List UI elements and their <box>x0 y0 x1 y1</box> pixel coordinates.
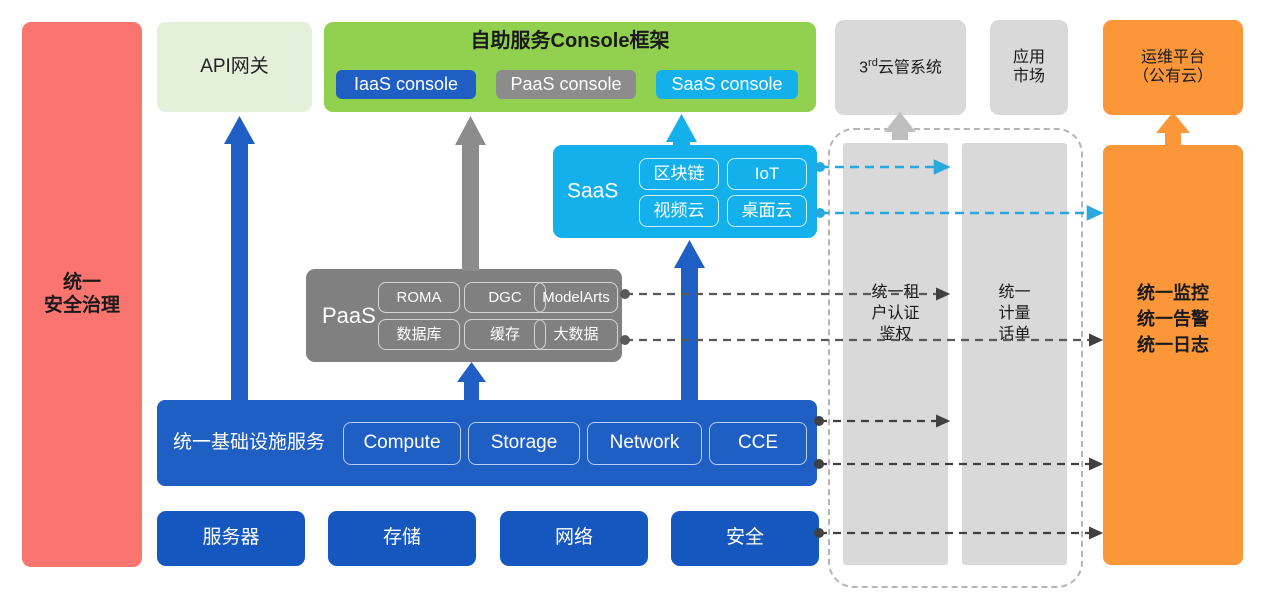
ops-platform-box[interactable]: 运维平台 （公有云） <box>1103 20 1243 115</box>
ops-platform-line2: （公有云） <box>1133 68 1213 87</box>
paas-console-chip[interactable]: PaaS console <box>496 70 636 99</box>
saas-chip-desktop-cloud[interactable]: 桌面云 <box>727 195 807 227</box>
shared-column-metering-billing: 统一 计量 话单 <box>962 143 1067 565</box>
unified-infrastructure-service-bar: 统一基础设施服务 Compute Storage Network CCE <box>157 400 817 486</box>
paas-chip-bigdata-label: 大数据 <box>553 326 598 344</box>
paas-chip-database[interactable]: 数据库 <box>378 319 460 350</box>
iaas-console-chip[interactable]: IaaS console <box>336 70 476 99</box>
architecture-diagram: 统一 安全治理 API网关 自助服务Console框架 IaaS console… <box>0 0 1265 605</box>
arrow-infra-to-paas <box>457 362 486 402</box>
arrow-infra-to-saas <box>674 240 705 402</box>
hardware-storage-label: 存储 <box>383 527 421 549</box>
infra-chip-storage[interactable]: Storage <box>468 422 580 465</box>
metering-line3: 话单 <box>962 325 1067 346</box>
third-party-prefix: 3 <box>859 59 868 76</box>
infra-chip-storage-label: Storage <box>491 432 558 454</box>
saas-chip-video-cloud[interactable]: 视频云 <box>639 195 719 227</box>
saas-chip-iot-label: IoT <box>755 164 780 184</box>
infrastructure-label: 统一基础设施服务 <box>173 432 325 454</box>
app-market-line1: 应用 <box>1013 49 1045 68</box>
paas-chip-database-label: 数据库 <box>396 326 441 344</box>
paas-chip-bigdata[interactable]: 大数据 <box>534 319 618 350</box>
paas-chip-roma[interactable]: ROMA <box>378 282 460 313</box>
paas-console-label: PaaS console <box>510 74 621 95</box>
shared-column-tenant-auth: 统一租 户认证 鉴权 <box>843 143 948 565</box>
saas-panel-label: SaaS <box>567 179 618 204</box>
saas-chip-blockchain[interactable]: 区块链 <box>639 158 719 190</box>
api-gateway-label: API网关 <box>200 56 269 78</box>
infra-chip-compute-label: Compute <box>363 432 440 454</box>
paas-chip-modelarts-label: ModelArts <box>542 289 610 307</box>
arrow-paas-to-console <box>455 116 486 271</box>
api-gateway-box[interactable]: API网关 <box>157 22 312 112</box>
paas-chip-modelarts[interactable]: ModelArts <box>534 282 618 313</box>
hardware-network-label: 网络 <box>555 527 593 549</box>
hardware-server-label: 服务器 <box>202 527 259 549</box>
tenant-auth-line3: 鉴权 <box>843 325 948 346</box>
saas-panel: SaaS 区块链 IoT 视频云 桌面云 <box>553 145 817 238</box>
third-party-cloud-mgmt-label: 3rd云管系统 <box>859 57 942 78</box>
hardware-box-network[interactable]: 网络 <box>500 511 648 566</box>
hardware-security-label: 安全 <box>726 527 764 549</box>
third-party-cloud-mgmt-box[interactable]: 3rd云管系统 <box>835 20 966 115</box>
metering-line2: 计量 <box>962 304 1067 325</box>
ops-pillar-line3: 统一日志 <box>1103 332 1243 358</box>
saas-chip-desktop-cloud-label: 桌面云 <box>742 201 793 221</box>
third-party-suffix: 云管系统 <box>878 59 942 76</box>
arrow-infra-to-api-gateway <box>224 116 255 402</box>
saas-chip-iot[interactable]: IoT <box>727 158 807 190</box>
app-market-line2: 市场 <box>1013 68 1045 87</box>
hardware-box-storage[interactable]: 存储 <box>328 511 476 566</box>
iaas-console-label: IaaS console <box>354 74 458 95</box>
saas-console-label: SaaS console <box>671 74 782 95</box>
infra-chip-network[interactable]: Network <box>587 422 702 465</box>
tenant-auth-line1: 统一租 <box>843 283 948 304</box>
saas-chip-blockchain-label: 区块链 <box>654 164 705 184</box>
saas-chip-video-cloud-label: 视频云 <box>654 201 705 221</box>
app-market-box[interactable]: 应用 市场 <box>990 20 1068 115</box>
hardware-box-security[interactable]: 安全 <box>671 511 819 566</box>
infra-chip-network-label: Network <box>610 432 680 454</box>
security-pillar-line1: 统一 <box>63 272 101 294</box>
unified-security-governance-pillar: 统一 安全治理 <box>22 22 142 567</box>
hardware-box-server[interactable]: 服务器 <box>157 511 305 566</box>
paas-chip-cache-label: 缓存 <box>490 326 520 344</box>
paas-panel-label: PaaS <box>322 303 376 329</box>
infra-chip-compute[interactable]: Compute <box>343 422 461 465</box>
infra-chip-cce-label: CCE <box>738 432 778 454</box>
paas-panel: PaaS ROMA DGC ModelArts 数据库 缓存 大数据 <box>306 269 622 362</box>
third-party-superscript: rd <box>868 57 878 69</box>
ops-platform-line1: 运维平台 <box>1141 49 1205 68</box>
self-service-console-frame: 自助服务Console框架 IaaS console PaaS console … <box>324 22 816 112</box>
ops-pillar-line1: 统一监控 <box>1103 280 1243 306</box>
console-frame-title: 自助服务Console框架 <box>324 30 816 54</box>
tenant-auth-line2: 户认证 <box>843 304 948 325</box>
metering-line1: 统一 <box>962 283 1067 304</box>
arrow-ops-pillar-to-platform <box>1156 112 1190 146</box>
security-pillar-line2: 安全治理 <box>44 295 120 317</box>
saas-console-chip[interactable]: SaaS console <box>656 70 798 99</box>
paas-chip-roma-label: ROMA <box>397 289 442 307</box>
paas-chip-dgc-label: DGC <box>488 289 521 307</box>
ops-monitoring-pillar: 统一监控 统一告警 统一日志 <box>1103 145 1243 565</box>
infra-chip-cce[interactable]: CCE <box>709 422 807 465</box>
ops-pillar-line2: 统一告警 <box>1103 306 1243 332</box>
